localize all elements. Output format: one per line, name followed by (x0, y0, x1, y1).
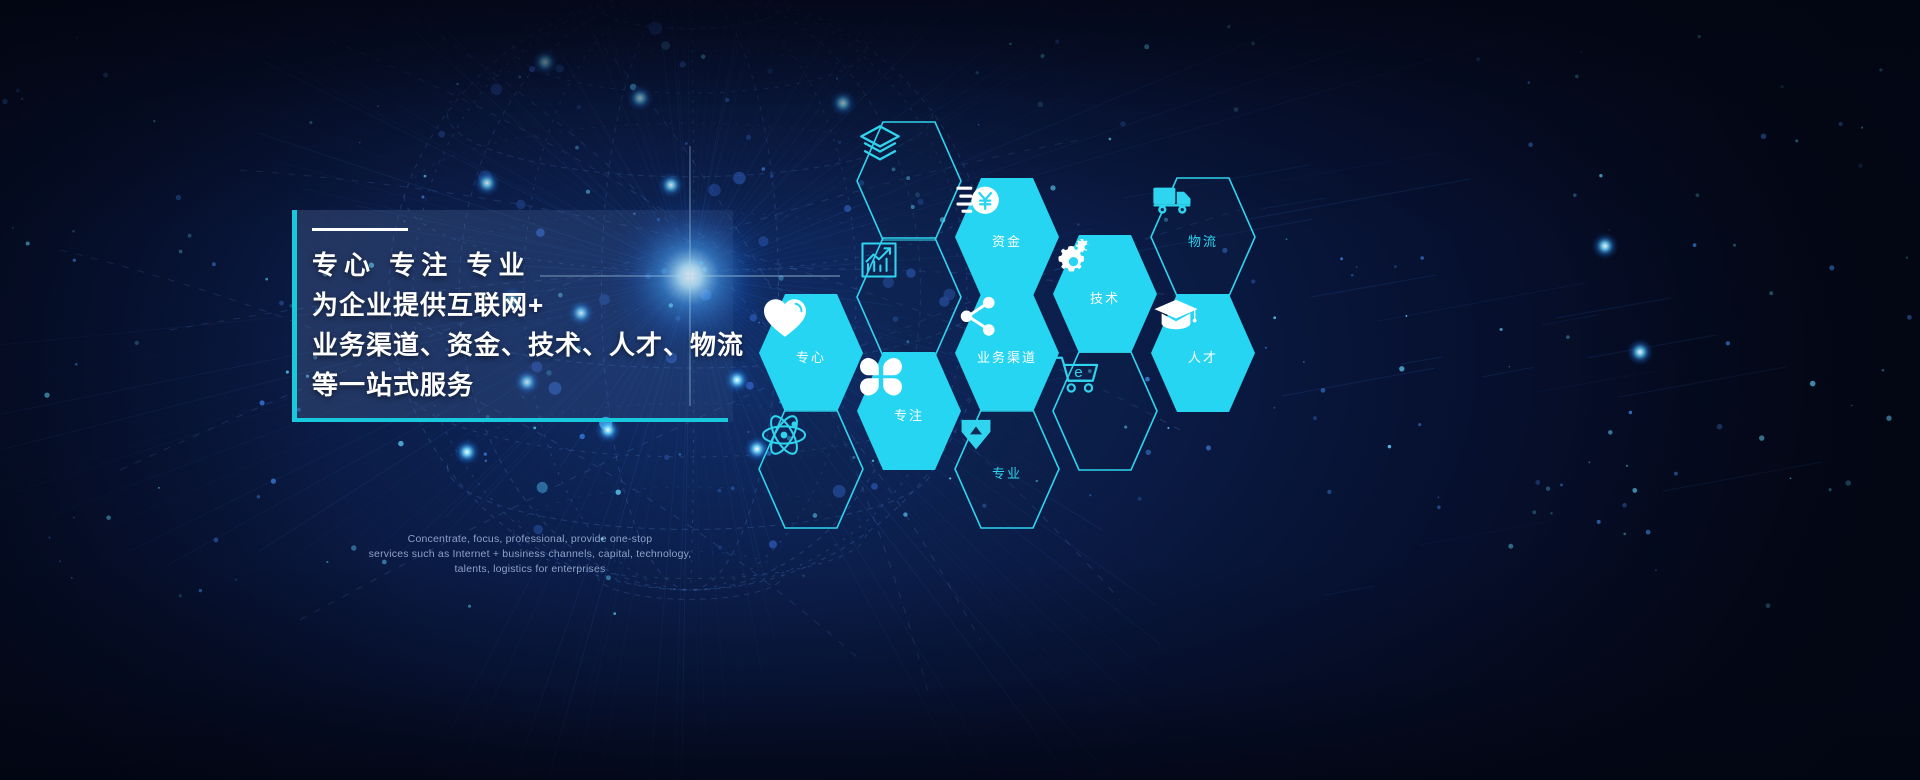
hexagon-zhuanxin[interactable]: 专心 (759, 294, 863, 412)
hexagon-zhuanye[interactable]: 专业 (955, 410, 1059, 528)
headline-line-2: 为企业提供互联网+ (312, 285, 742, 325)
hexagon-zijin[interactable]: 资金 (955, 178, 1059, 296)
hexagon-analytics[interactable] (857, 238, 961, 356)
hexagon-jishu[interactable]: 技术 (1053, 235, 1157, 353)
hexagon-rencai[interactable]: 人才 (1151, 294, 1255, 412)
hexagon-wuliu[interactable]: 物流 (1151, 178, 1255, 296)
headline-underline (292, 418, 728, 422)
hexagon-label: 人才 (1188, 347, 1218, 366)
headline-line-1: 专心 专注 专业 (312, 245, 742, 285)
hexagon-label: 专心 (796, 347, 826, 366)
banner-stage: 资金技术物流专心业务渠道人才专注e专业 专心 专注 专业 为企业提供互联网+ 业… (0, 0, 1920, 780)
hexagon-zhuanzhu[interactable]: 专注 (857, 352, 961, 470)
hexagon-label: 业务渠道 (977, 347, 1037, 366)
subtitle-line-2: services such as Internet + business cha… (330, 547, 730, 562)
hexagon-label: 技术 (1090, 288, 1120, 307)
hexagon-label: 专注 (894, 405, 924, 424)
hexagon-layers[interactable] (857, 122, 961, 240)
hexagon-atom[interactable] (759, 410, 863, 528)
hexagon-yewuqudao[interactable]: 业务渠道 (955, 294, 1059, 412)
headline-line-3: 业务渠道、资金、技术、人才、物流 (312, 325, 742, 365)
headline-content: 专心 专注 专业 为企业提供互联网+ 业务渠道、资金、技术、人才、物流 等一站式… (312, 228, 742, 405)
hexagon-label: 专业 (992, 463, 1022, 482)
subtitle-line-3: talents, logistics for enterprises (330, 562, 730, 577)
hexagon-label: 资金 (992, 231, 1022, 250)
headline-line-4: 等一站式服务 (312, 365, 742, 405)
svg-text:e: e (1074, 364, 1082, 381)
hexagon-label: 物流 (1188, 231, 1218, 250)
subtitle-english: Concentrate, focus, professional, provid… (330, 532, 730, 577)
hexagon-ecommerce[interactable]: e (1053, 352, 1157, 470)
headline-rule (312, 228, 408, 231)
subtitle-line-1: Concentrate, focus, professional, provid… (330, 532, 730, 547)
